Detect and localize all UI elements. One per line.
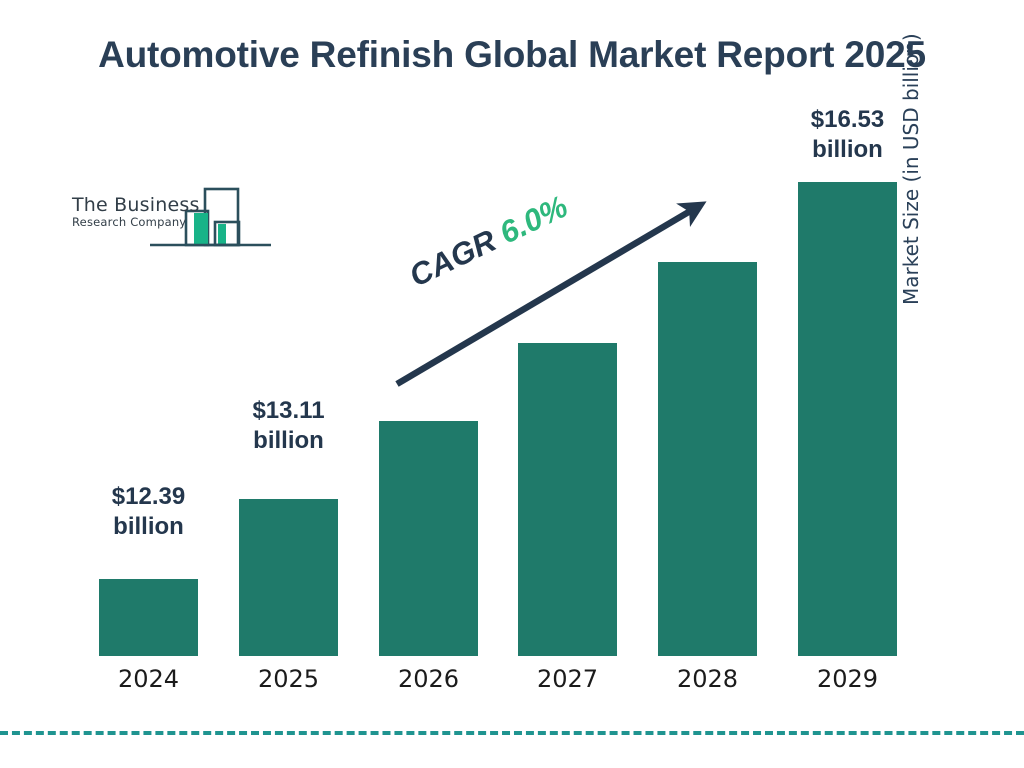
chart-page: Automotive Refinish Global Market Report… [0,0,1024,768]
y-axis-title: Market Size (in USD billion) [899,0,923,305]
bottom-divider [0,731,1024,735]
bar-chart-plot-area: $12.39 billion $13.11 billion $16.53 bil… [0,0,1024,768]
growth-arrow-icon [0,0,1024,768]
